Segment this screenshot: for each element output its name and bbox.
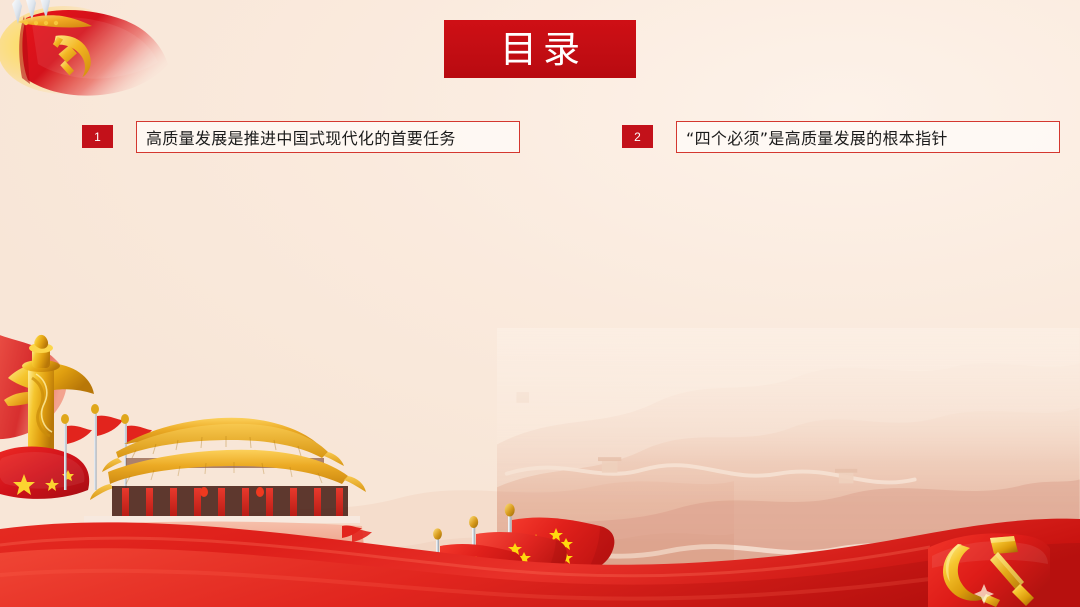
landscape-backdrop-icon: [216, 413, 734, 607]
slide-title-bar: 目录: [444, 20, 636, 78]
toc-number-badge: 2: [622, 125, 653, 148]
presentation-slide: 目录 1 高质量发展是推进中国式现代化的首要任务 2 “四个必须”是高质量发展的…: [0, 0, 1080, 607]
page-title: 目录: [494, 31, 586, 68]
toc-item-1[interactable]: 1 高质量发展是推进中国式现代化的首要任务: [0, 112, 540, 161]
toc-item-2[interactable]: 2 “四个必须”是高质量发展的根本指针: [540, 112, 1080, 161]
table-of-contents: 1 高质量发展是推进中国式现代化的首要任务 2 “四个必须”是高质量发展的根本指…: [0, 112, 1080, 161]
toc-text-box[interactable]: 高质量发展是推进中国式现代化的首要任务: [136, 121, 520, 153]
toc-item-label: “四个必须”是高质量发展的根本指针: [686, 125, 948, 149]
toc-item-label: 高质量发展是推进中国式现代化的首要任务: [146, 125, 456, 149]
toc-text-box[interactable]: “四个必须”是高质量发展的根本指针: [676, 121, 1060, 153]
toc-number-badge: 1: [82, 125, 113, 148]
